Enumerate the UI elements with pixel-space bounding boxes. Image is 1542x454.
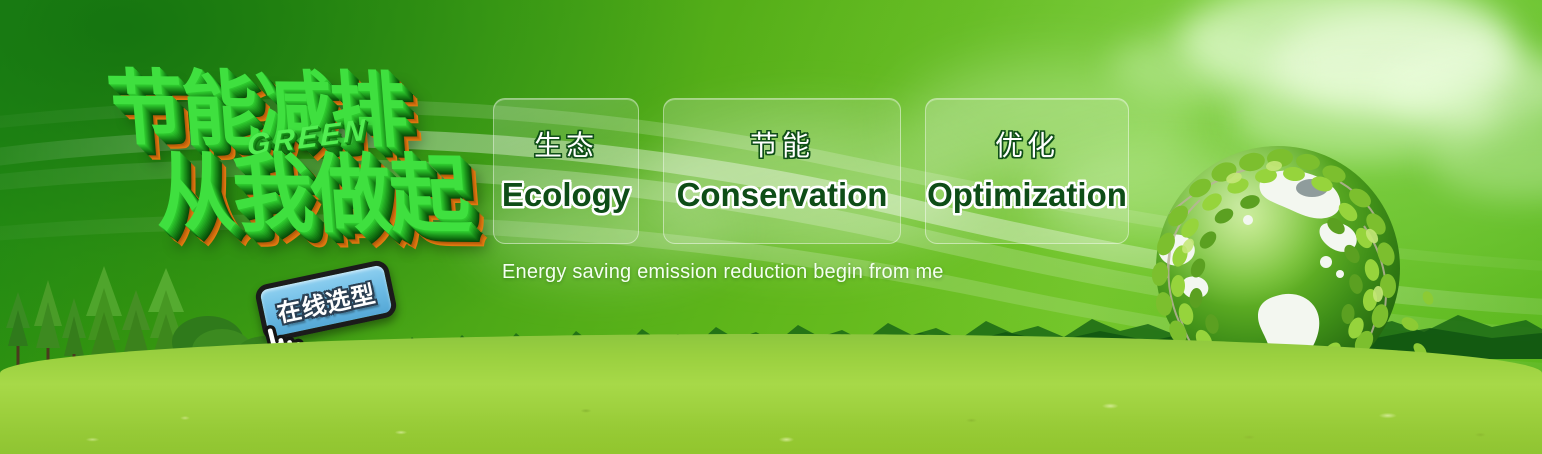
grass-meadow-texture [0,334,1542,454]
feature-card-list: 生态 Ecology 节能 Conservation 优化 Optimizati… [493,98,1129,244]
headline-line-2: 从我做起 [149,123,472,251]
feature-card-ecology[interactable]: 生态 Ecology [493,98,639,244]
headline-3d: 节能减排 GREEN 从我做起 [91,23,508,289]
feature-card-ecology-en: Ecology [502,178,630,211]
feature-card-optimization-en: Optimization [927,178,1127,211]
green-energy-banner: 节能减排 GREEN 从我做起 在线选型 生态 Ecology 节能 Conse… [0,0,1542,454]
feature-card-conservation-en: Conservation [677,178,888,211]
feature-card-optimization[interactable]: 优化 Optimization [925,98,1129,244]
feature-card-ecology-cn: 生态 [534,132,598,160]
feature-card-conservation[interactable]: 节能 Conservation [663,98,901,244]
feature-card-optimization-cn: 优化 [995,132,1059,160]
banner-tagline: Energy saving emission reduction begin f… [502,261,944,284]
feature-card-conservation-cn: 节能 [750,132,814,160]
